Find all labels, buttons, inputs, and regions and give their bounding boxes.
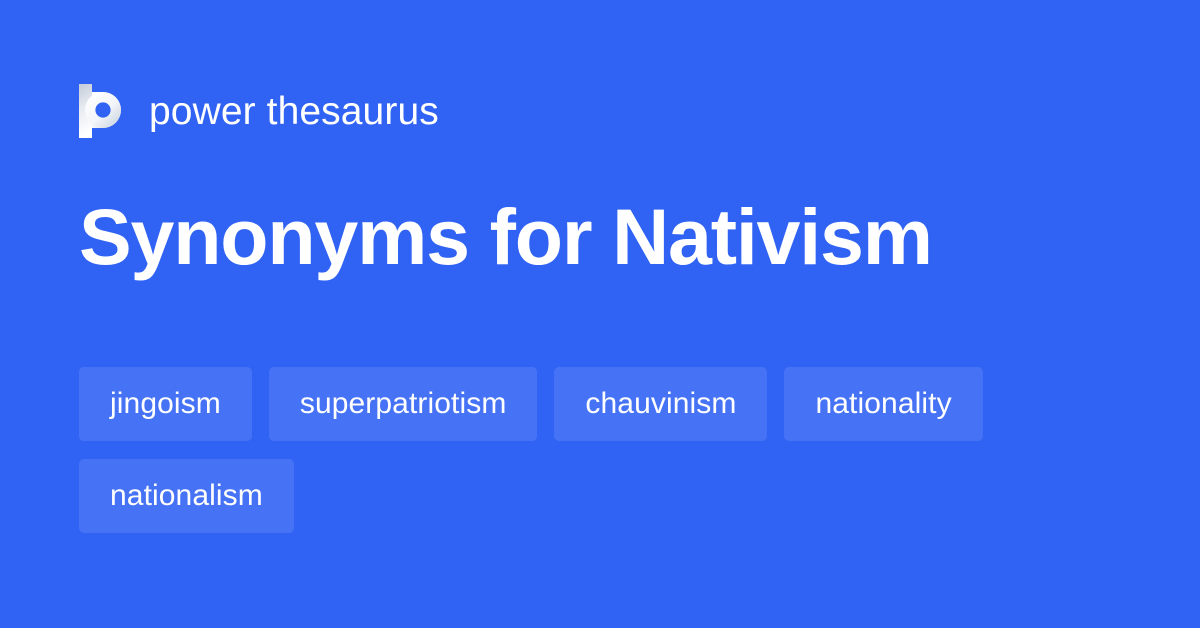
power-thesaurus-b-logo-icon (79, 84, 129, 138)
page-title: Synonyms for Nativism (79, 196, 932, 279)
synonym-tag[interactable]: jingoism (79, 367, 252, 441)
synonym-tag[interactable]: chauvinism (554, 367, 767, 441)
brand-logo[interactable]: power thesaurus (79, 84, 439, 138)
synonym-tag[interactable]: nationality (784, 367, 982, 441)
synonym-tag[interactable]: superpatriotism (269, 367, 538, 441)
synonym-tag[interactable]: nationalism (79, 459, 294, 533)
brand-name: power thesaurus (149, 92, 439, 131)
share-card: power thesaurus Synonyms for Nativism ji… (0, 0, 1200, 628)
synonym-tag-list: jingoism superpatriotism chauvinism nati… (79, 367, 1119, 533)
